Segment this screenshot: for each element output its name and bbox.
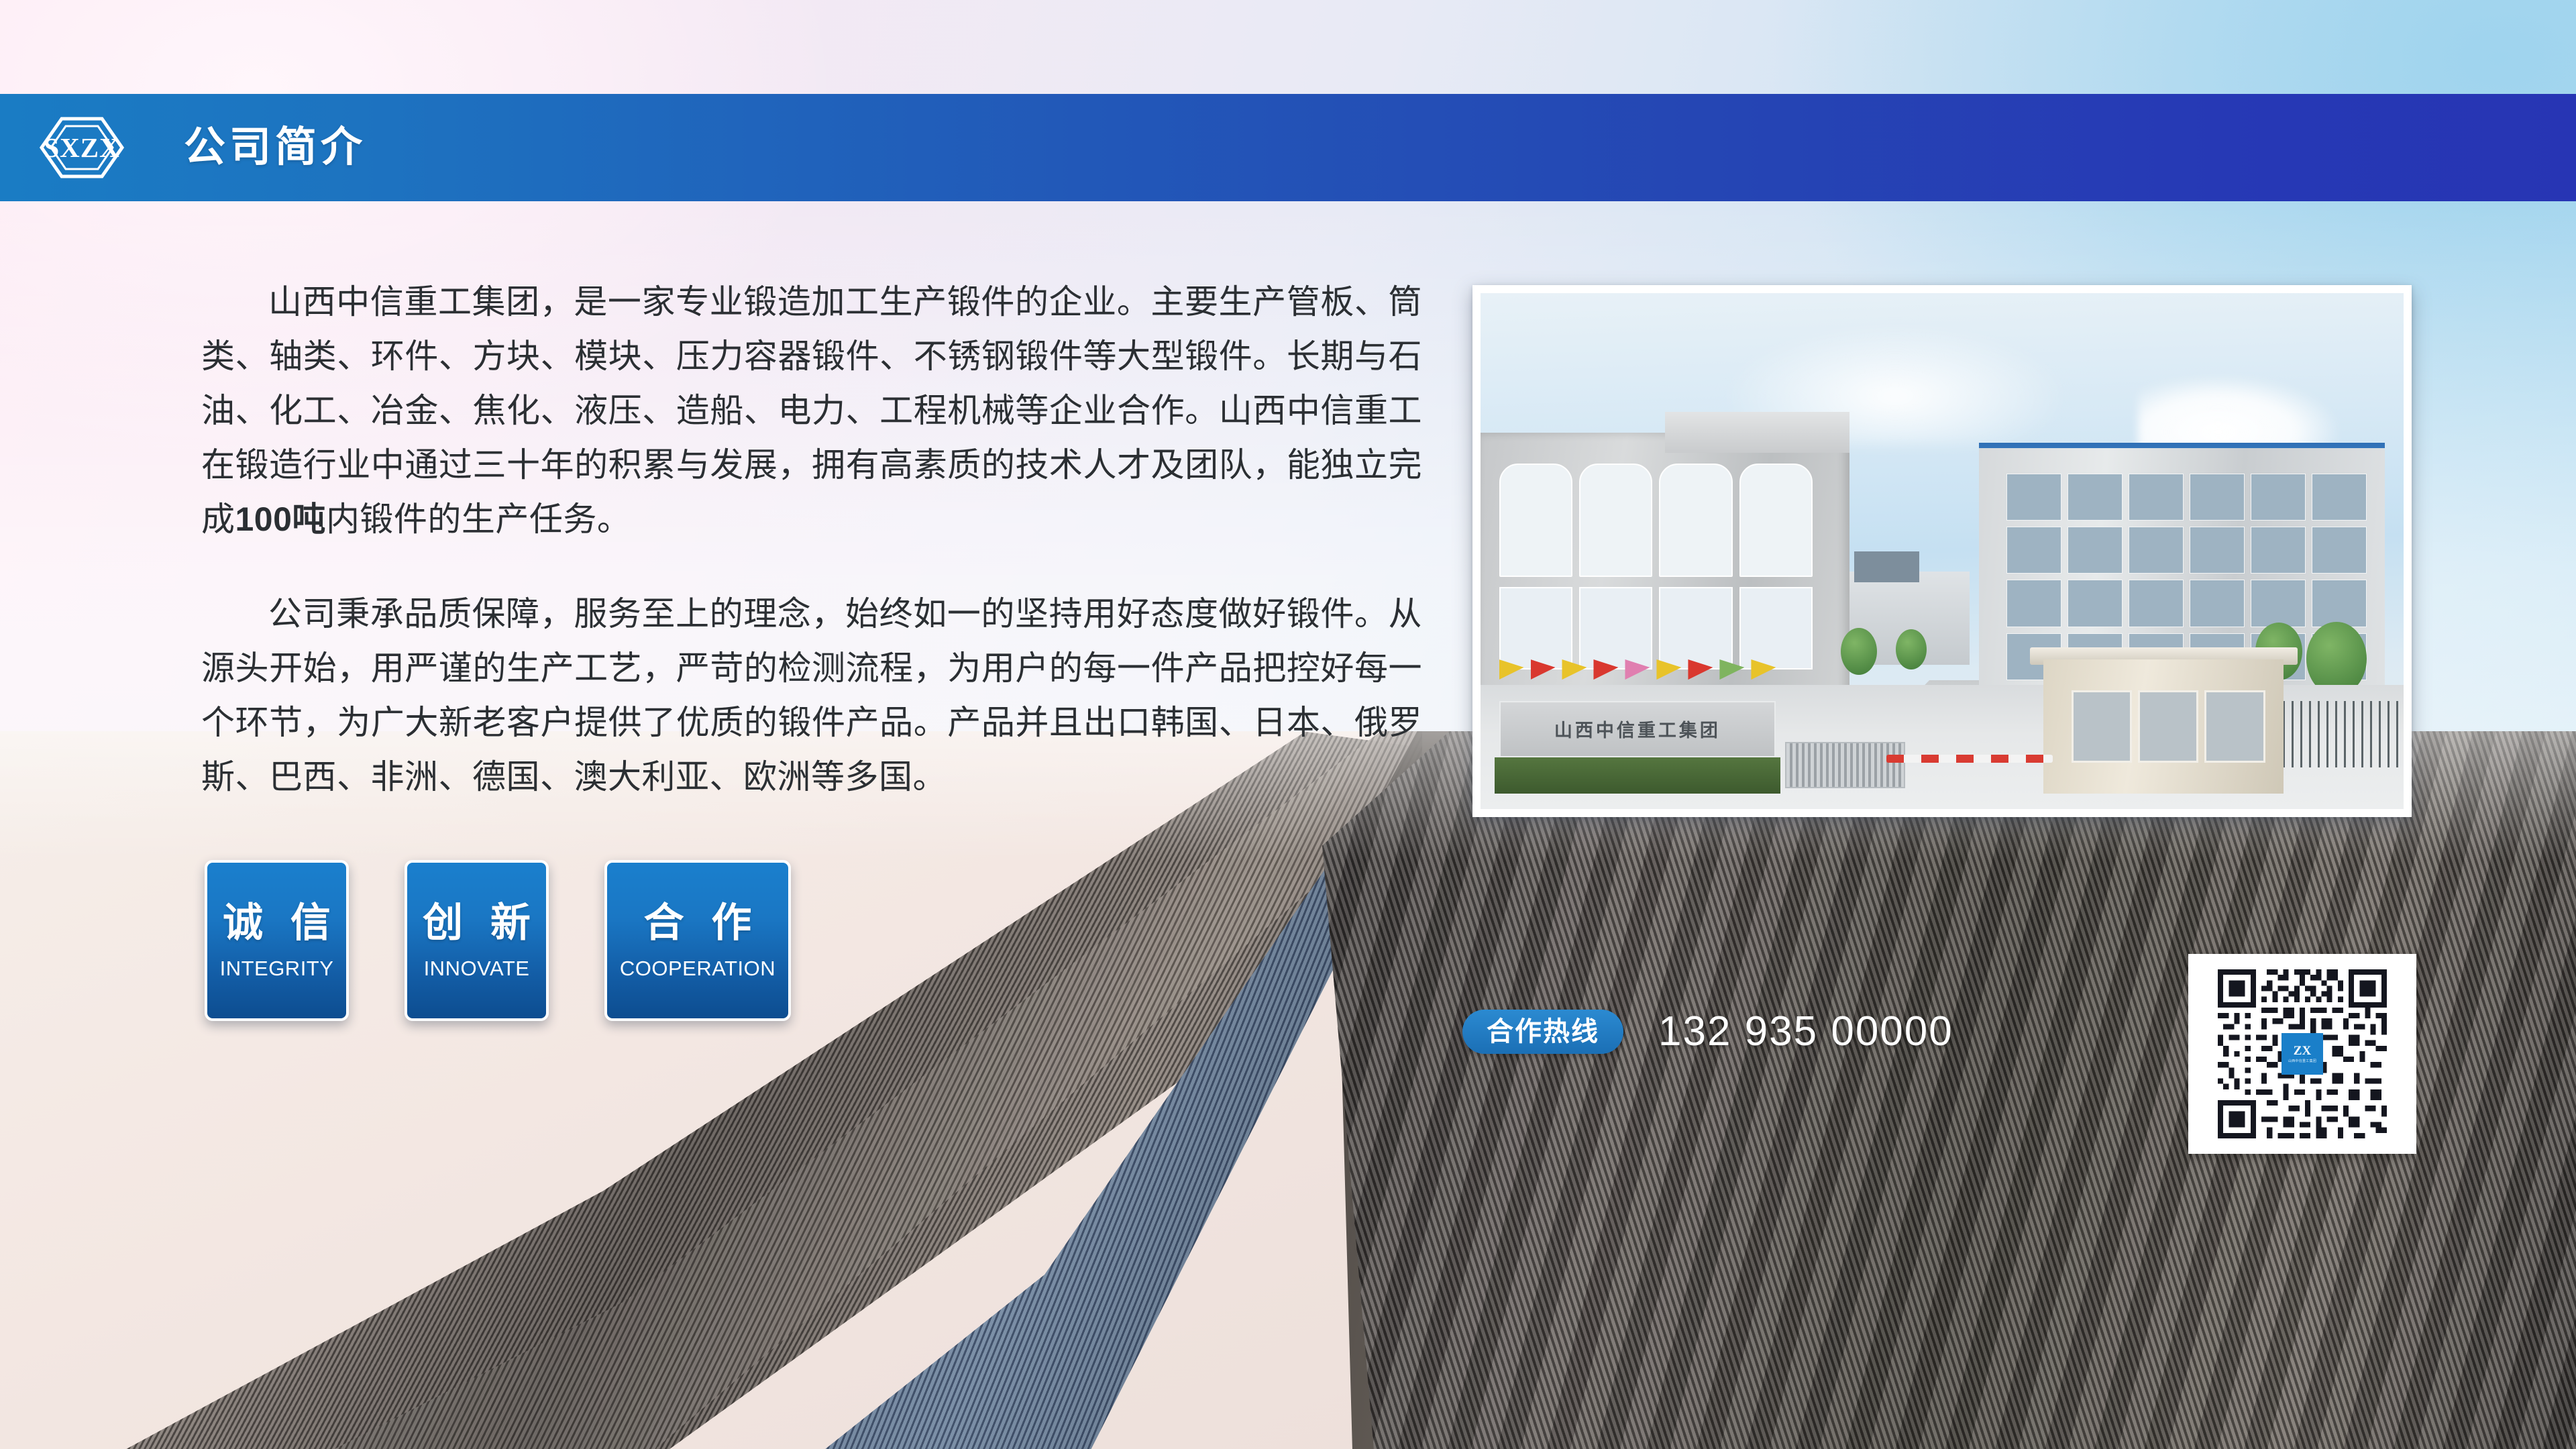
sliding-gate [1785, 742, 1905, 788]
hotline-block: 合作热线 132 935 00000 [1462, 1010, 1953, 1054]
company-sign: 山西中信重工集团 [1499, 701, 1776, 758]
paragraph-1-text-b: 内锻件的生产任务。 [326, 500, 631, 538]
hedge [1495, 757, 1781, 794]
value-card-innovate-en: INNOVATE [424, 958, 530, 979]
value-card-integrity-cn: 诚 信 [215, 903, 339, 943]
value-cards: 诚 信 INTEGRITY 创 新 INNOVATE 合 作 COOPERATI… [205, 860, 791, 1021]
paragraph-2: 公司秉承品质保障，服务至上的理念，始终如一的坚持用好态度做好锻件。从源头开始，用… [201, 587, 1422, 804]
qr-code[interactable]: ZX 山西中信重工集团 [2188, 954, 2416, 1154]
page-header: SXZX 公司简介 [0, 94, 2576, 201]
company-sign-text: 山西中信重工集团 [1554, 716, 1721, 742]
decorative-flags [1499, 659, 1776, 696]
qr-center-logo: ZX 山西中信重工集团 [2282, 1033, 2323, 1075]
company-description: 山西中信重工集团，是一家专业锻造加工生产锻件的企业。主要生产管板、筒类、轴类、环… [201, 275, 1422, 804]
tonnage-highlight: 100吨 [235, 500, 326, 538]
qr-center-logo-sub: 山西中信重工集团 [2288, 1060, 2316, 1063]
hotline-label: 合作热线 [1462, 1010, 1623, 1054]
value-card-cooperation[interactable]: 合 作 COOPERATION [604, 860, 791, 1021]
page-title: 公司简介 [184, 127, 366, 168]
left-building-arch-windows [1499, 464, 1813, 577]
hotline-number[interactable]: 132 935 00000 [1658, 1011, 1953, 1053]
left-building-windows [1499, 587, 1813, 669]
left-building-tower [1665, 412, 1849, 453]
value-card-cooperation-en: COOPERATION [620, 958, 775, 979]
paragraph-1-text-a: 山西中信重工集团，是一家专业锻造加工生产锻件的企业。主要生产管板、筒类、轴类、环… [201, 283, 1422, 538]
paragraph-1: 山西中信重工集团，是一家专业锻造加工生产锻件的企业。主要生产管板、筒类、轴类、环… [201, 275, 1422, 547]
factory-gate-photo: 山西中信重工集团 [1472, 285, 2412, 817]
tree-3 [1841, 628, 1877, 675]
value-card-innovate-cn: 创 新 [415, 903, 539, 943]
distant-building-top [1854, 551, 1919, 582]
hexagon-logo-icon: SXZX [39, 116, 125, 179]
qr-code-matrix: ZX 山西中信重工集团 [2212, 964, 2392, 1144]
slide-page: SXZX 公司简介 [0, 0, 2576, 1449]
tree-1 [2306, 622, 2367, 696]
guard-house-windows [2072, 690, 2265, 763]
boom-barrier [1886, 755, 2053, 763]
value-card-innovate[interactable]: 创 新 INNOVATE [405, 860, 549, 1021]
logo-text: SXZX [44, 134, 119, 162]
photo-inner: 山西中信重工集团 [1481, 293, 2404, 809]
perimeter-fence [2274, 701, 2404, 768]
value-card-integrity[interactable]: 诚 信 INTEGRITY [205, 860, 349, 1021]
value-card-cooperation-cn: 合 作 [636, 903, 760, 943]
qr-center-logo-text: ZX [2294, 1044, 2311, 1057]
value-card-integrity-en: INTEGRITY [220, 958, 334, 979]
